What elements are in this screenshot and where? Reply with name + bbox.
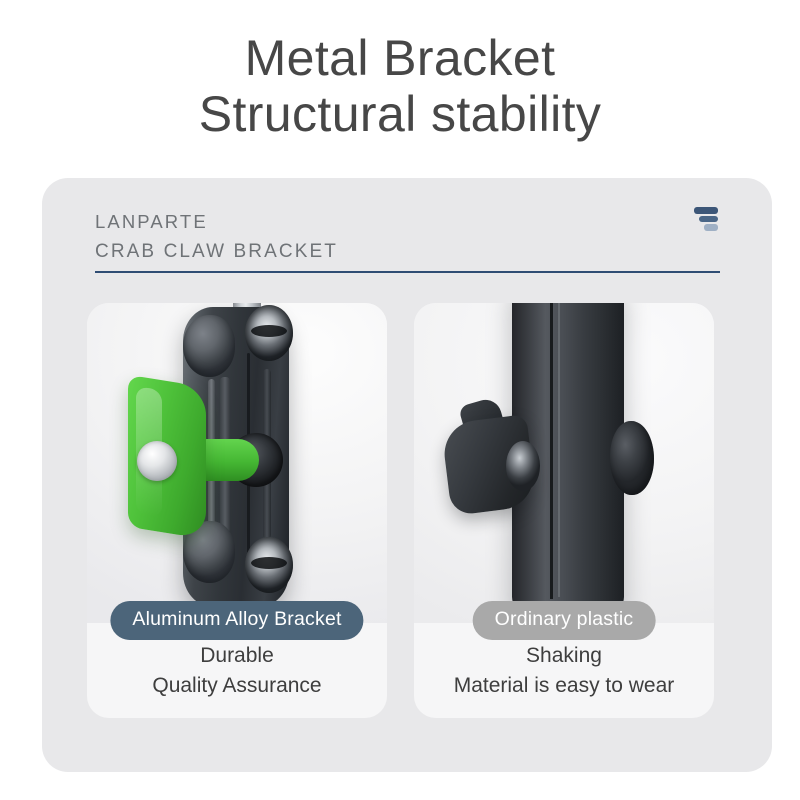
caption-line-1: Shaking	[414, 641, 714, 671]
page-title: Metal Bracket Structural stability	[0, 30, 800, 142]
status-badge-plastic: Ordinary plastic	[473, 601, 656, 640]
comparison-panels: Aluminum Alloy Bracket Durable Quality A…	[87, 303, 727, 718]
brand-name: LANPARTE	[95, 208, 720, 237]
product-comparison-card: LANPARTE CRAB CLAW BRACKET	[42, 178, 772, 772]
knob-metal-cap	[137, 441, 177, 481]
caption-line-2: Quality Assurance	[87, 671, 387, 701]
aluminum-scene	[87, 303, 387, 623]
caption-line-1: Durable	[87, 641, 387, 671]
logo-bar-middle	[699, 216, 718, 223]
caption-aluminum: Durable Quality Assurance	[87, 641, 387, 701]
tube-seam-dark	[550, 303, 553, 599]
lever-pivot-hub	[506, 441, 540, 491]
tube-side-nub	[610, 421, 654, 495]
aluminum-bracket-photo	[87, 303, 387, 623]
status-badge-aluminum: Aluminum Alloy Bracket	[110, 601, 363, 640]
caption-plastic: Shaking Material is easy to wear	[414, 641, 714, 701]
ball-socket-top	[245, 305, 293, 361]
headline-line-2: Structural stability	[0, 86, 800, 142]
panel-aluminum[interactable]: Aluminum Alloy Bracket Durable Quality A…	[87, 303, 387, 718]
plastic-scene	[414, 303, 714, 623]
product-name: CRAB CLAW BRACKET	[95, 237, 720, 266]
tube-seam-light	[558, 303, 560, 597]
header-divider	[95, 271, 720, 273]
stacked-bars-logo-icon	[692, 206, 722, 232]
logo-bar-top	[694, 207, 718, 214]
headline-line-1: Metal Bracket	[0, 30, 800, 86]
card-header: LANPARTE CRAB CLAW BRACKET	[95, 208, 720, 266]
page-root: Metal Bracket Structural stability LANPA…	[0, 0, 800, 800]
logo-bar-bottom	[704, 224, 718, 231]
knuckle-pad-top	[183, 315, 235, 377]
green-knob-shaft	[199, 439, 259, 481]
panel-plastic[interactable]: Ordinary plastic Shaking Material is eas…	[414, 303, 714, 718]
plastic-tube-photo	[414, 303, 714, 623]
caption-line-2: Material is easy to wear	[414, 671, 714, 701]
ball-socket-bottom	[245, 537, 293, 593]
